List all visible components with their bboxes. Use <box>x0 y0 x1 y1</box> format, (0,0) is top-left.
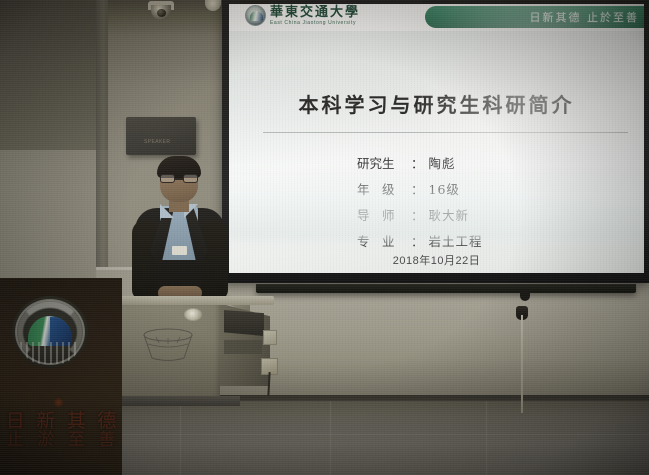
field-value: 陶彪 <box>429 153 456 172</box>
field-colon: ： <box>411 153 425 172</box>
slide-field-row: 导 师 ： 耿大新 <box>357 205 483 224</box>
glasses-lens-right <box>183 174 198 183</box>
screen-pull-cord <box>521 315 523 413</box>
university-logo: 華東交通大學 East China Jiaotong University <box>245 5 360 26</box>
glasses-lens-left <box>160 174 175 183</box>
projection-screen-frame: 日新其德 止於至善 華東交通大學 East China Jiaotong Uni… <box>222 0 649 283</box>
university-seal-icon <box>245 5 266 26</box>
field-colon: ： <box>411 179 425 198</box>
calligraphy-char-bottom: 善 <box>98 432 115 450</box>
slide-field-row: 年 级 ： 16级 <box>357 179 483 198</box>
presenter-arm-left <box>132 220 158 300</box>
field-colon: ： <box>411 231 425 250</box>
calligraphy-column: 德 善 <box>97 412 116 450</box>
screen-mount <box>520 289 530 301</box>
slide-divider <box>263 132 628 133</box>
slide-green-banner: 日新其德 止於至善 <box>425 6 644 28</box>
wall-box-label: SPEAKER <box>144 139 170 145</box>
projection-screen-surface: 日新其德 止於至善 華東交通大學 East China Jiaotong Uni… <box>229 4 644 273</box>
calligraphy-char-top: 日 <box>6 412 25 432</box>
calligraphy-char-bottom: 至 <box>68 432 85 450</box>
calligraphy-char-bottom: 淤 <box>37 432 54 450</box>
calligraphy-char-top: 新 <box>36 412 55 432</box>
security-camera-icon <box>148 1 174 21</box>
photo-scene: SPEAKER 日新其德 止於至善 華東交通大學 East China Jiao… <box>0 0 649 475</box>
glasses-bridge <box>175 178 183 180</box>
slide-date: 2018年10月22日 <box>229 252 644 268</box>
field-value: 耿大新 <box>429 205 470 224</box>
slide-field-list: 研究生 ： 陶彪 年 级 ： 16级 导 师 ： 耿大新 <box>357 153 483 250</box>
podium-inner-shelf-lower <box>224 340 262 354</box>
field-label: 年 级 <box>357 179 411 198</box>
university-names: 華東交通大學 East China Jiaotong University <box>270 6 360 26</box>
podium-emblem-icon <box>184 308 202 321</box>
slide-title: 本科学习与研究生科研简介 <box>229 89 644 118</box>
podium-bowl-graphic-icon <box>142 328 194 362</box>
wall-outlet-upper <box>263 330 277 345</box>
field-label: 研究生 <box>357 153 411 172</box>
presenter <box>122 158 238 306</box>
floor-tile-line <box>486 401 487 475</box>
podium-base <box>120 396 240 406</box>
field-label: 导 师 <box>357 205 411 224</box>
university-name-en: East China Jiaotong University <box>270 21 360 26</box>
podium-inner-shelf <box>224 310 264 336</box>
presenter-arm-right <box>202 220 228 300</box>
slide-field-row: 研究生 ： 陶彪 <box>357 153 483 172</box>
calligraphy-column: 其 至 <box>67 412 86 450</box>
ceiling-left-panel <box>0 0 108 150</box>
wall-mounted-speaker-box: SPEAKER <box>126 117 196 155</box>
university-emblem-icon <box>12 296 88 368</box>
banner-decor-dot <box>54 398 63 407</box>
podium <box>112 296 270 406</box>
slide-header: 日新其德 止於至善 華東交通大學 East China Jiaotong Uni… <box>229 4 644 31</box>
wall-left-column <box>96 0 108 300</box>
floor-tile-line <box>180 401 181 475</box>
floor-tile-line <box>330 401 331 475</box>
slide-field-row: 专 业 ： 岩土工程 <box>357 231 483 250</box>
university-name-cn: 華東交通大學 <box>270 6 360 19</box>
wall-banner-calligraphy: 日 止 新 淤 其 至 德 善 <box>0 408 122 475</box>
calligraphy-char-top: 德 <box>97 412 116 432</box>
field-value: 岩土工程 <box>429 231 483 250</box>
slide-body: 本科学习与研究生科研简介 研究生 ： 陶彪 年 级 ： 16级 导 师 <box>229 31 644 273</box>
podium-top-surface <box>108 296 274 305</box>
field-label: 专 业 <box>357 231 411 250</box>
screen-bottom-bar <box>256 284 636 293</box>
presenter-badge <box>172 246 187 255</box>
field-colon: ： <box>411 205 425 224</box>
calligraphy-char-bottom: 止 <box>7 432 24 450</box>
slide-banner-calligraphy: 日新其德 止於至善 <box>530 9 640 25</box>
calligraphy-column: 日 止 <box>6 412 25 450</box>
calligraphy-char-top: 其 <box>67 412 86 432</box>
field-value: 16级 <box>429 179 460 198</box>
glasses-icon <box>160 174 198 183</box>
emblem-ticks <box>20 342 80 364</box>
calligraphy-column: 新 淤 <box>36 412 55 450</box>
camera-lens <box>157 9 166 17</box>
